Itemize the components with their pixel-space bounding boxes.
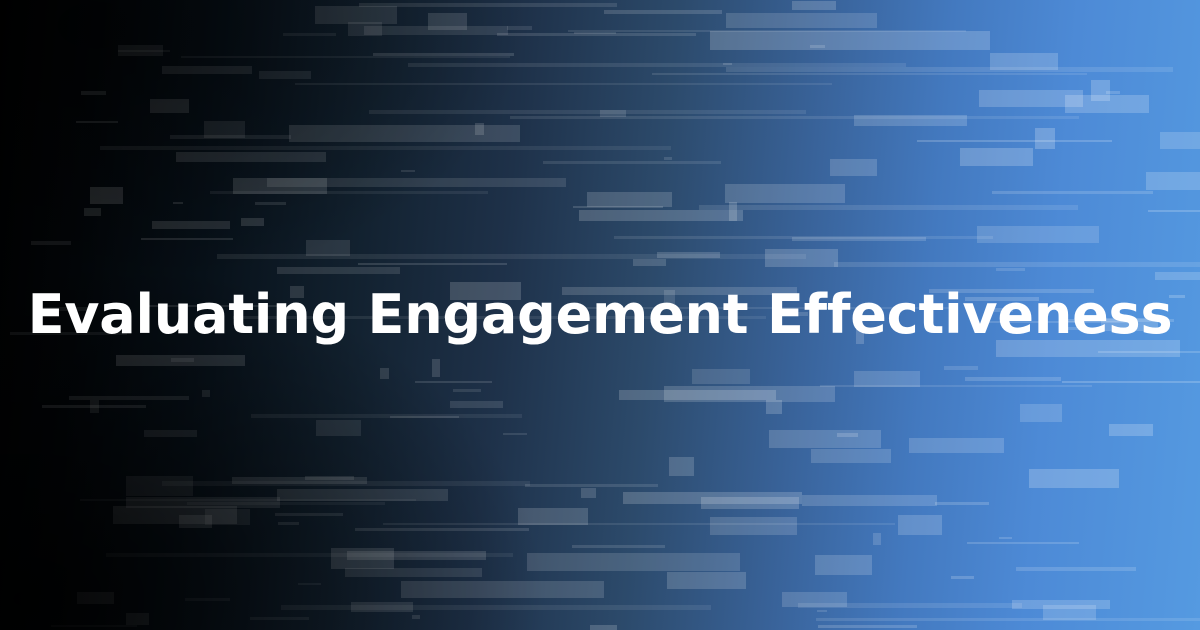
title-container: Evaluating Engagement Effectiveness: [0, 0, 1200, 630]
social-share-banner: Evaluating Engagement Effectiveness: [0, 0, 1200, 630]
page-title: Evaluating Engagement Effectiveness: [28, 284, 1173, 346]
